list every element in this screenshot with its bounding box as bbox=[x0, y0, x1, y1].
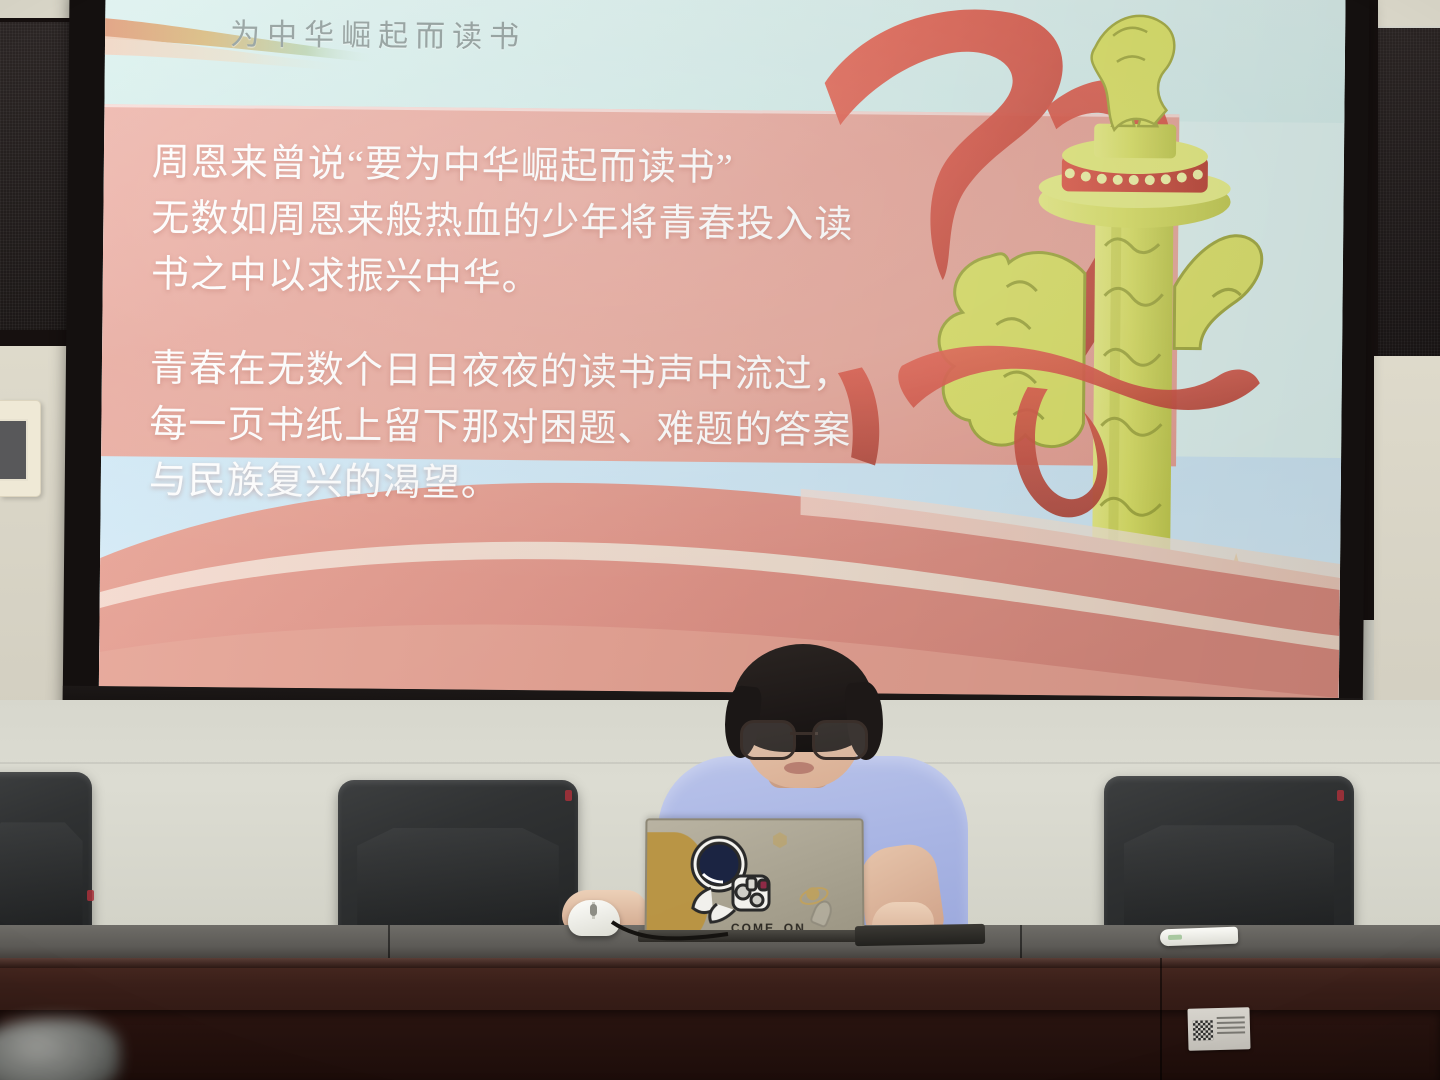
table-top-seam-right bbox=[1020, 925, 1022, 961]
slide-line-6: 与民族复兴的渴望。 bbox=[149, 460, 500, 505]
chair-stitch-facet bbox=[1124, 825, 1334, 927]
slide-line-3: 书之中以求振兴中华。 bbox=[151, 254, 541, 300]
slide-line-1: 周恩来曾说“要为中华崛起而读书” bbox=[152, 142, 734, 190]
foreground-blurred-object bbox=[0, 1018, 120, 1080]
slide-surface: 为中华崛起而读书 周恩来曾说“要为中华崛起而读书” 无数如周恩来般热血的少年将青… bbox=[99, 0, 1346, 698]
chair-1[interactable] bbox=[0, 772, 92, 940]
table-front-seam bbox=[1160, 958, 1162, 1080]
chair-tag bbox=[1337, 790, 1344, 801]
asset-tag-lines bbox=[1217, 1016, 1246, 1037]
slide-paragraph-1: 周恩来曾说“要为中华崛起而读书” 无数如周恩来般热血的少年将青春投入读 书之中以… bbox=[151, 135, 943, 311]
thermostat-display bbox=[0, 419, 28, 481]
eyeglasses-icon bbox=[740, 720, 868, 754]
chair-stitch-facet bbox=[0, 822, 83, 926]
chair-4[interactable] bbox=[1104, 776, 1354, 940]
slide-line-2: 无数如周恩来般热血的少年将青春投入读 bbox=[151, 198, 853, 247]
lens-left bbox=[740, 720, 796, 760]
remote-indicator bbox=[1168, 935, 1182, 940]
chair-stitch-facet bbox=[357, 828, 559, 927]
chair-2[interactable] bbox=[338, 780, 578, 940]
thermostat-panel-icon[interactable] bbox=[0, 400, 41, 497]
presenter-remote-icon[interactable] bbox=[1160, 927, 1239, 947]
slide-header-title: 为中华崛起而读书 bbox=[230, 9, 710, 58]
lens-right bbox=[812, 720, 868, 760]
wall-panel-right bbox=[1374, 28, 1440, 360]
slide-line-4: 青春在无数个日日夜夜的读书声中流过， bbox=[150, 348, 852, 397]
qr-asset-tag-icon bbox=[1187, 1007, 1250, 1051]
mouse-wheel[interactable] bbox=[590, 904, 597, 916]
slide-body-text: 周恩来曾说“要为中华崛起而读书” 无数如周恩来般热血的少年将青春投入读 书之中以… bbox=[149, 135, 943, 517]
slide: 为中华崛起而读书 周恩来曾说“要为中华崛起而读书” 无数如周恩来般热血的少年将青… bbox=[99, 0, 1346, 698]
projection-screen: 为中华崛起而读书 周恩来曾说“要为中华崛起而读书” 无数如周恩来般热血的少年将青… bbox=[62, 0, 1369, 736]
slide-paragraph-2: 青春在无数个日日夜夜的读书声中流过， 每一页书纸上留下那对困题、难题的答案 与民… bbox=[149, 341, 941, 517]
ceiling-frame-right bbox=[1374, 0, 1440, 26]
person-mouth bbox=[784, 762, 814, 774]
slide-line-5: 每一页书纸上留下那对困题、难题的答案 bbox=[149, 404, 851, 453]
qr-code bbox=[1193, 1020, 1214, 1041]
keyboard-tray[interactable] bbox=[855, 924, 985, 946]
wall-right-lower bbox=[1374, 356, 1440, 756]
screenshot-root: 为中华崛起而读书 周恩来曾说“要为中华崛起而读书” 无数如周恩来般热血的少年将青… bbox=[0, 0, 1440, 1080]
chair-tag bbox=[87, 890, 94, 901]
table-moulding-top bbox=[0, 958, 1440, 968]
mouse-cable-icon bbox=[610, 918, 730, 944]
chair-tag bbox=[565, 790, 572, 801]
table-top-seam-left bbox=[388, 925, 390, 961]
